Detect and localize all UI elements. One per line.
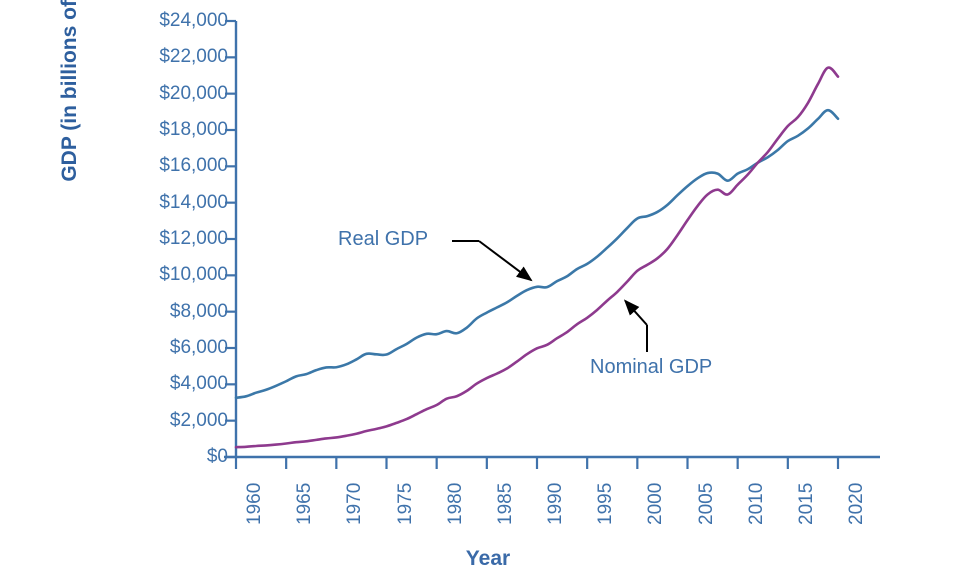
plot-area (0, 0, 976, 584)
axis-ticks (225, 21, 838, 469)
gdp-line-chart: GDP (in billions of dollars) $0$2,000$4,… (0, 0, 976, 584)
series-line-nominal-gdp (236, 68, 838, 448)
axis-lines (224, 21, 880, 457)
annotation-arrows (452, 241, 647, 352)
series-line-real-gdp (236, 110, 838, 398)
